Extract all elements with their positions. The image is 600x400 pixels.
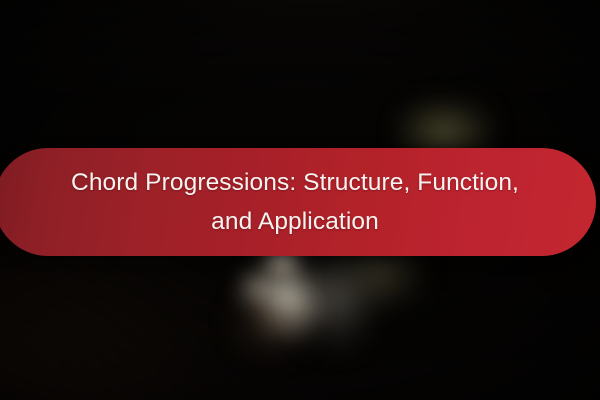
title-banner: Chord Progressions: Structure, Function,… xyxy=(0,148,596,256)
background-right-glow xyxy=(300,258,374,348)
page-title: Chord Progressions: Structure, Function,… xyxy=(0,163,596,241)
title-card: Chord Progressions: Structure, Function,… xyxy=(0,0,600,400)
